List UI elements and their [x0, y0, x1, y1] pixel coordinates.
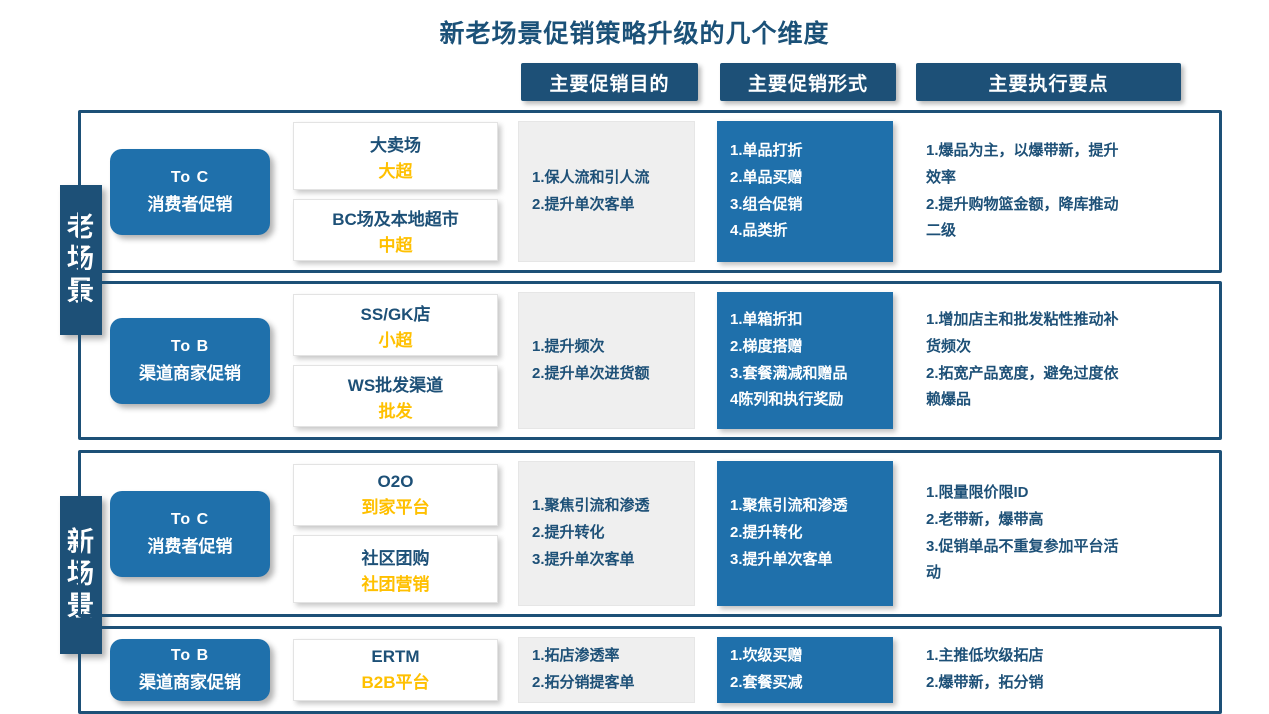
- audience-type: To C: [171, 169, 209, 187]
- panel-line: 2.提升转化: [730, 520, 880, 547]
- channel-alias: 小超: [379, 326, 413, 351]
- panel-line: 3.套餐满减和赠品: [730, 361, 880, 388]
- channel-card[interactable]: 社区团购社团营销: [293, 535, 498, 603]
- panel-line: 1.限量限价限ID: [926, 480, 1176, 507]
- panel-form: 1.坎级买赠2.套餐买减: [717, 637, 893, 703]
- panel-line: 二级: [926, 218, 1176, 245]
- channel-name: 大卖场: [370, 131, 421, 156]
- column-header-execution: 主要执行要点: [916, 63, 1181, 101]
- audience-description: 渠道商家促销: [139, 359, 241, 384]
- panel-line: 2.拓宽产品宽度，避免过度依: [926, 361, 1176, 388]
- audience-description: 渠道商家促销: [139, 668, 241, 693]
- panel-line: 1.爆品为主，以爆带新，提升: [926, 138, 1176, 165]
- panel-execution: 1.主推低坎级拓店2.爆带新，拓分销: [913, 637, 1189, 703]
- channel-name: BC场及本地超市: [332, 205, 459, 230]
- channel-card[interactable]: SS/GK店小超: [293, 294, 498, 356]
- audience-badge[interactable]: To B渠道商家促销: [110, 639, 270, 701]
- panel-line: 效率: [926, 165, 1176, 192]
- table-row: To C消费者促销O2O到家平台社区团购社团营销1.聚焦引流和渗透2.提升转化3…: [78, 450, 1222, 617]
- column-header-form: 主要促销形式: [720, 63, 896, 101]
- audience-badge[interactable]: To C消费者促销: [110, 491, 270, 577]
- panel-execution: 1.爆品为主，以爆带新，提升效率2.提升购物篮金额，降库推动二级: [913, 121, 1189, 262]
- panel-line: 1.增加店主和批发粘性推动补: [926, 307, 1176, 334]
- panel-line: 3.提升单次客单: [532, 547, 681, 574]
- audience-description: 消费者促销: [148, 190, 233, 215]
- channel-alias: 批发: [379, 397, 413, 422]
- panel-line: 2.提升单次进货额: [532, 361, 681, 388]
- channel-name: WS批发渠道: [348, 371, 443, 396]
- panel-line: 1.主推低坎级拓店: [926, 643, 1176, 670]
- panel-line: 1.聚焦引流和渗透: [730, 493, 880, 520]
- channel-name: SS/GK店: [361, 300, 431, 325]
- panel-purpose: 1.保人流和引人流2.提升单次客单: [518, 121, 695, 262]
- panel-line: 1.拓店渗透率: [532, 643, 681, 670]
- channel-alias: 到家平台: [362, 493, 430, 518]
- panel-line: 1.保人流和引人流: [532, 165, 681, 192]
- channel-card[interactable]: ERTMB2B平台: [293, 639, 498, 701]
- channel-card[interactable]: O2O到家平台: [293, 464, 498, 526]
- table-row: To B渠道商家促销SS/GK店小超WS批发渠道批发1.提升频次2.提升单次进货…: [78, 281, 1222, 440]
- panel-line: 1.聚焦引流和渗透: [532, 493, 681, 520]
- panel-line: 2.套餐买减: [730, 670, 880, 697]
- page-title: 新老场景促销策略升级的几个维度: [0, 14, 1269, 50]
- audience-type: To B: [171, 647, 209, 665]
- panel-line: 动: [926, 560, 1176, 587]
- panel-line: 2.拓分销提客单: [532, 670, 681, 697]
- channel-name: ERTM: [371, 647, 419, 667]
- panel-execution: 1.限量限价限ID2.老带新，爆带高3.促销单品不重复参加平台活动: [913, 461, 1189, 606]
- panel-execution: 1.增加店主和批发粘性推动补货频次2.拓宽产品宽度，避免过度依赖爆品: [913, 292, 1189, 429]
- panel-line: 2.提升单次客单: [532, 192, 681, 219]
- panel-form: 1.聚焦引流和渗透2.提升转化3.提升单次客单: [717, 461, 893, 606]
- panel-purpose: 1.提升频次2.提升单次进货额: [518, 292, 695, 429]
- panel-line: 2.提升购物篮金额，降库推动: [926, 192, 1176, 219]
- audience-type: To C: [171, 511, 209, 529]
- audience-description: 消费者促销: [148, 532, 233, 557]
- channel-card[interactable]: BC场及本地超市中超: [293, 199, 498, 261]
- audience-type: To B: [171, 338, 209, 356]
- channel-card-list: ERTMB2B平台: [293, 639, 498, 701]
- panel-line: 3.促销单品不重复参加平台活: [926, 534, 1176, 561]
- channel-alias: B2B平台: [361, 668, 429, 693]
- table-row: To C消费者促销大卖场大超BC场及本地超市中超1.保人流和引人流2.提升单次客…: [78, 110, 1222, 273]
- panel-line: 2.梯度搭赠: [730, 334, 880, 361]
- channel-card-list: 大卖场大超BC场及本地超市中超: [293, 122, 498, 261]
- panel-line: 2.爆带新，拓分销: [926, 670, 1176, 697]
- panel-line: 1.坎级买赠: [730, 643, 880, 670]
- panel-line: 2.老带新，爆带高: [926, 507, 1176, 534]
- panel-purpose: 1.聚焦引流和渗透2.提升转化3.提升单次客单: [518, 461, 695, 606]
- panel-line: 2.提升转化: [532, 520, 681, 547]
- column-header-purpose: 主要促销目的: [521, 63, 698, 101]
- channel-name: O2O: [378, 472, 414, 492]
- channel-card-list: SS/GK店小超WS批发渠道批发: [293, 294, 498, 427]
- channel-card[interactable]: 大卖场大超: [293, 122, 498, 190]
- table-row: To B渠道商家促销ERTMB2B平台1.拓店渗透率2.拓分销提客单1.坎级买赠…: [78, 626, 1222, 714]
- panel-line: 赖爆品: [926, 387, 1176, 414]
- slide-canvas: 新老场景促销策略升级的几个维度 主要促销目的 主要促销形式 主要执行要点 老场景…: [0, 0, 1269, 714]
- channel-alias: 大超: [379, 157, 413, 182]
- panel-line: 3.组合促销: [730, 192, 880, 219]
- audience-badge[interactable]: To B渠道商家促销: [110, 318, 270, 404]
- channel-card[interactable]: WS批发渠道批发: [293, 365, 498, 427]
- panel-purpose: 1.拓店渗透率2.拓分销提客单: [518, 637, 695, 703]
- panel-line: 2.单品买赠: [730, 165, 880, 192]
- panel-line: 1.单品打折: [730, 138, 880, 165]
- audience-badge[interactable]: To C消费者促销: [110, 149, 270, 235]
- channel-card-list: O2O到家平台社区团购社团营销: [293, 464, 498, 603]
- channel-name: 社区团购: [362, 544, 430, 569]
- panel-line: 4.品类折: [730, 218, 880, 245]
- panel-line: 3.提升单次客单: [730, 547, 880, 574]
- panel-line: 1.提升频次: [532, 334, 681, 361]
- panel-line: 4陈列和执行奖励: [730, 387, 880, 414]
- panel-form: 1.单品打折2.单品买赠3.组合促销4.品类折: [717, 121, 893, 262]
- channel-alias: 中超: [379, 231, 413, 256]
- panel-line: 1.单箱折扣: [730, 307, 880, 334]
- panel-line: 货频次: [926, 334, 1176, 361]
- panel-form: 1.单箱折扣2.梯度搭赠3.套餐满减和赠品4陈列和执行奖励: [717, 292, 893, 429]
- channel-alias: 社团营销: [362, 570, 430, 595]
